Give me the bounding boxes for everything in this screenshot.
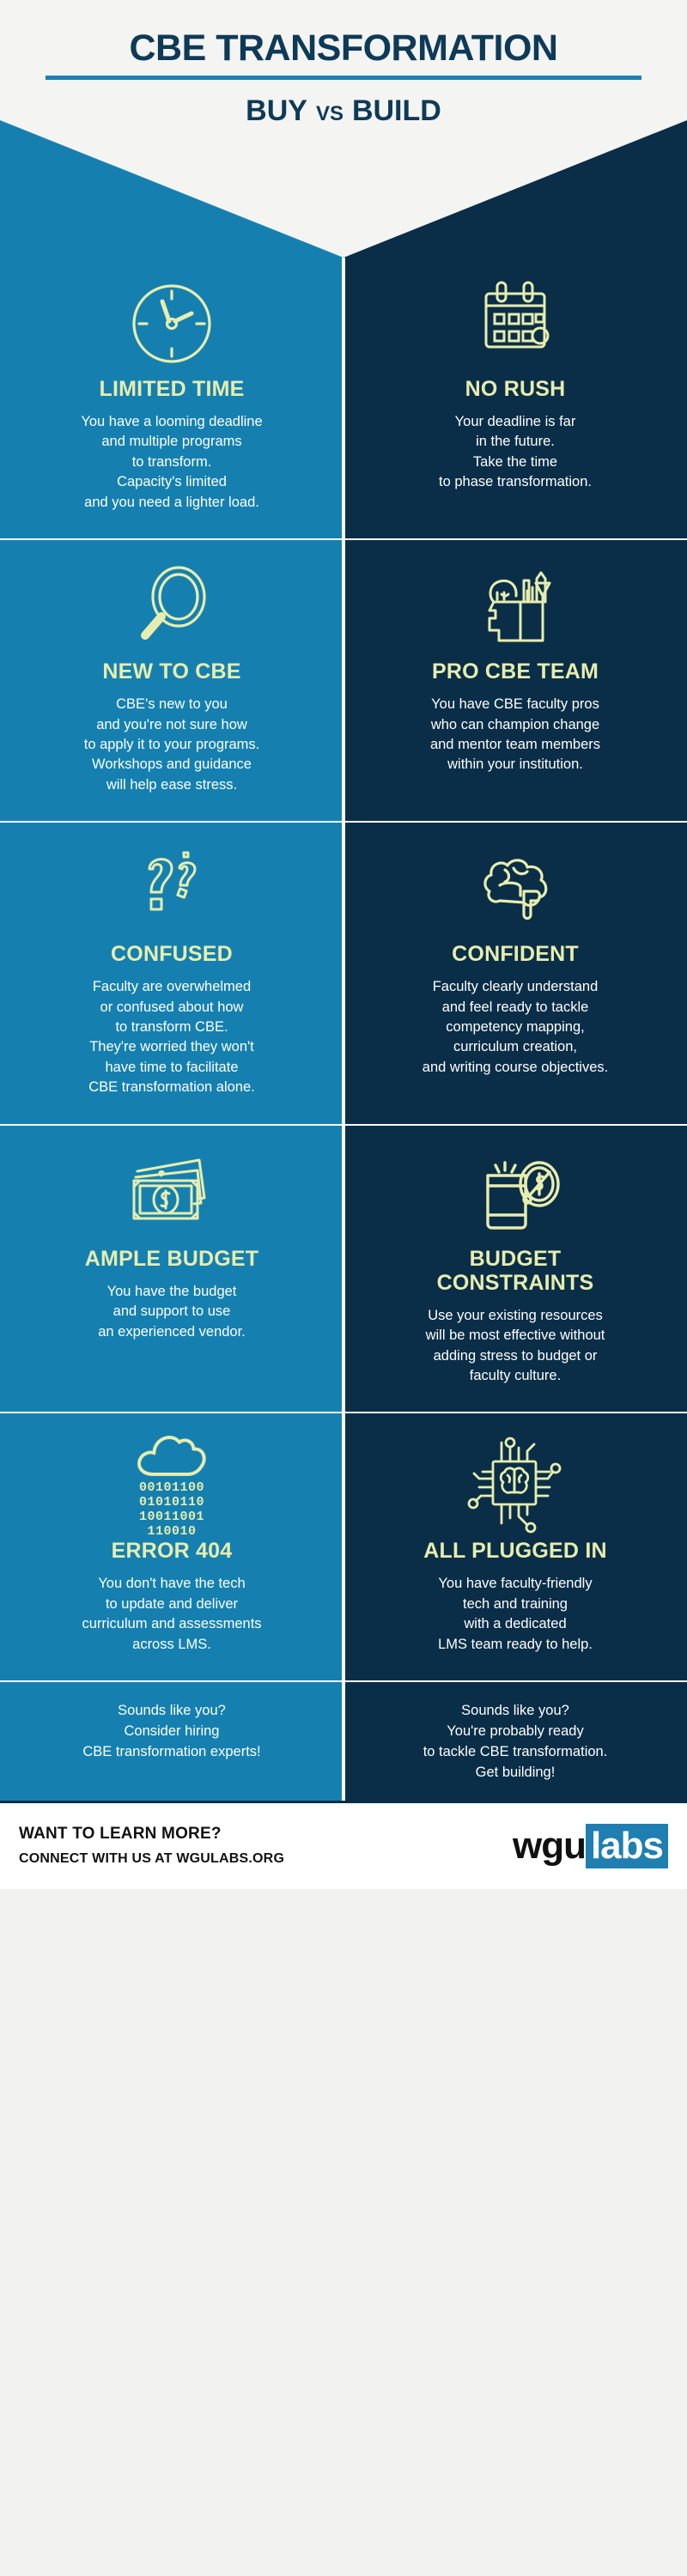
magnifying-glass-icon: [15, 552, 328, 659]
calendar-icon: [359, 270, 672, 377]
cell-body: You have faculty-friendly tech and train…: [359, 1574, 672, 1658]
brain-icon: [359, 835, 672, 942]
subtitle-buy: BUY: [246, 94, 307, 127]
cell-build-budget-constraints: BUDGET CONSTRAINTS Use your existing res…: [343, 1126, 687, 1413]
header-wedge-build: [343, 120, 687, 258]
footer-text-block: WANT TO LEARN MORE? CONNECT WITH US AT W…: [19, 1825, 284, 1867]
cell-title: AMPLE BUDGET: [15, 1247, 328, 1271]
cell-buy-conclusion: Sounds like you? Consider hiring CBE tra…: [0, 1682, 343, 1801]
cell-buy-limited-time: LIMITED TIME You have a looming deadline…: [0, 258, 343, 538]
conclusion-body: Sounds like you? You're probably ready t…: [359, 1701, 672, 1783]
cell-build-confident: CONFIDENT Faculty clearly understand and…: [343, 823, 687, 1124]
cell-build-all-plugged-in: ALL PLUGGED IN You have faculty-friendly…: [343, 1413, 687, 1680]
cell-body: Faculty are overwhelmed or confused abou…: [15, 977, 328, 1102]
center-gutter: [342, 258, 345, 1801]
wgu-labs-logo[interactable]: wgu labs: [513, 1824, 668, 1868]
cell-title: CONFIDENT: [359, 942, 672, 966]
cell-buy-ample-budget: AMPLE BUDGET You have the budget and sup…: [0, 1126, 343, 1413]
conclusion-body: Sounds like you? Consider hiring CBE tra…: [15, 1701, 328, 1763]
cell-build-no-rush: NO RUSH Your deadline is far in the futu…: [343, 258, 687, 538]
cell-title: LIMITED TIME: [15, 377, 328, 401]
logo-wgu-text: wgu: [513, 1824, 586, 1868]
cell-body: You have the budget and support to use a…: [15, 1282, 328, 1346]
cell-title: CONFUSED: [15, 942, 328, 966]
header-banner: CBE TRANSFORMATION BUYVSBUILD: [0, 0, 687, 258]
cell-build-conclusion: Sounds like you? You're probably ready t…: [343, 1682, 687, 1801]
cell-body: Faculty clearly understand and feel read…: [359, 977, 672, 1081]
head-with-ideas-icon: [359, 552, 672, 659]
footer-headline: WANT TO LEARN MORE?: [19, 1825, 284, 1844]
cell-body: CBE's new to you and you're not sure how…: [15, 695, 328, 799]
cell-build-pro-cbe-team: PRO CBE TEAM You have CBE faculty pros w…: [343, 540, 687, 821]
cell-body: Use your existing resources will be most…: [359, 1306, 672, 1390]
comparison-grid: LIMITED TIME You have a looming deadline…: [0, 258, 687, 1801]
cell-title: ALL PLUGGED IN: [359, 1539, 672, 1563]
subtitle-build: BUILD: [352, 94, 441, 127]
binary-code-text: 00101100 01010110 10011001 110010: [139, 1481, 204, 1539]
title-underline-rule: [46, 76, 641, 80]
page-subtitle: BUYVSBUILD: [0, 94, 687, 128]
wallet-no-money-icon: [359, 1139, 672, 1247]
question-marks-icon: [15, 835, 328, 942]
cell-title: ERROR 404: [15, 1539, 328, 1563]
cell-title: NEW TO CBE: [15, 659, 328, 683]
cloud-binary-icon: 00101100 01010110 10011001 110010: [15, 1427, 328, 1539]
cell-body: You have a looming deadline and multiple…: [15, 412, 328, 516]
page-title: CBE TRANSFORMATION: [0, 27, 687, 70]
cell-body: You have CBE faculty pros who can champi…: [359, 695, 672, 779]
cash-bills-icon: [15, 1139, 328, 1247]
header-wedge-buy: [0, 120, 343, 258]
cell-body: Your deadline is far in the future. Take…: [359, 412, 672, 496]
cell-buy-error-404: 00101100 01010110 10011001 110010 ERROR …: [0, 1413, 343, 1680]
cell-body: You don't have the tech to update and de…: [15, 1574, 328, 1658]
subtitle-vs: VS: [316, 102, 343, 125]
logo-labs-text: labs: [586, 1824, 668, 1868]
cell-buy-new-to-cbe: NEW TO CBE CBE's new to you and you're n…: [0, 540, 343, 821]
cell-title: PRO CBE TEAM: [359, 659, 672, 683]
cell-title: BUDGET CONSTRAINTS: [359, 1247, 672, 1295]
footer-bar: WANT TO LEARN MORE? CONNECT WITH US AT W…: [0, 1801, 687, 1889]
footer-contact: CONNECT WITH US AT WGULABS.ORG: [19, 1851, 284, 1867]
cell-title: NO RUSH: [359, 377, 672, 401]
cell-buy-confused: CONFUSED Faculty are overwhelmed or conf…: [0, 823, 343, 1124]
circuit-brain-icon: [359, 1427, 672, 1539]
clock-icon: [15, 270, 328, 377]
